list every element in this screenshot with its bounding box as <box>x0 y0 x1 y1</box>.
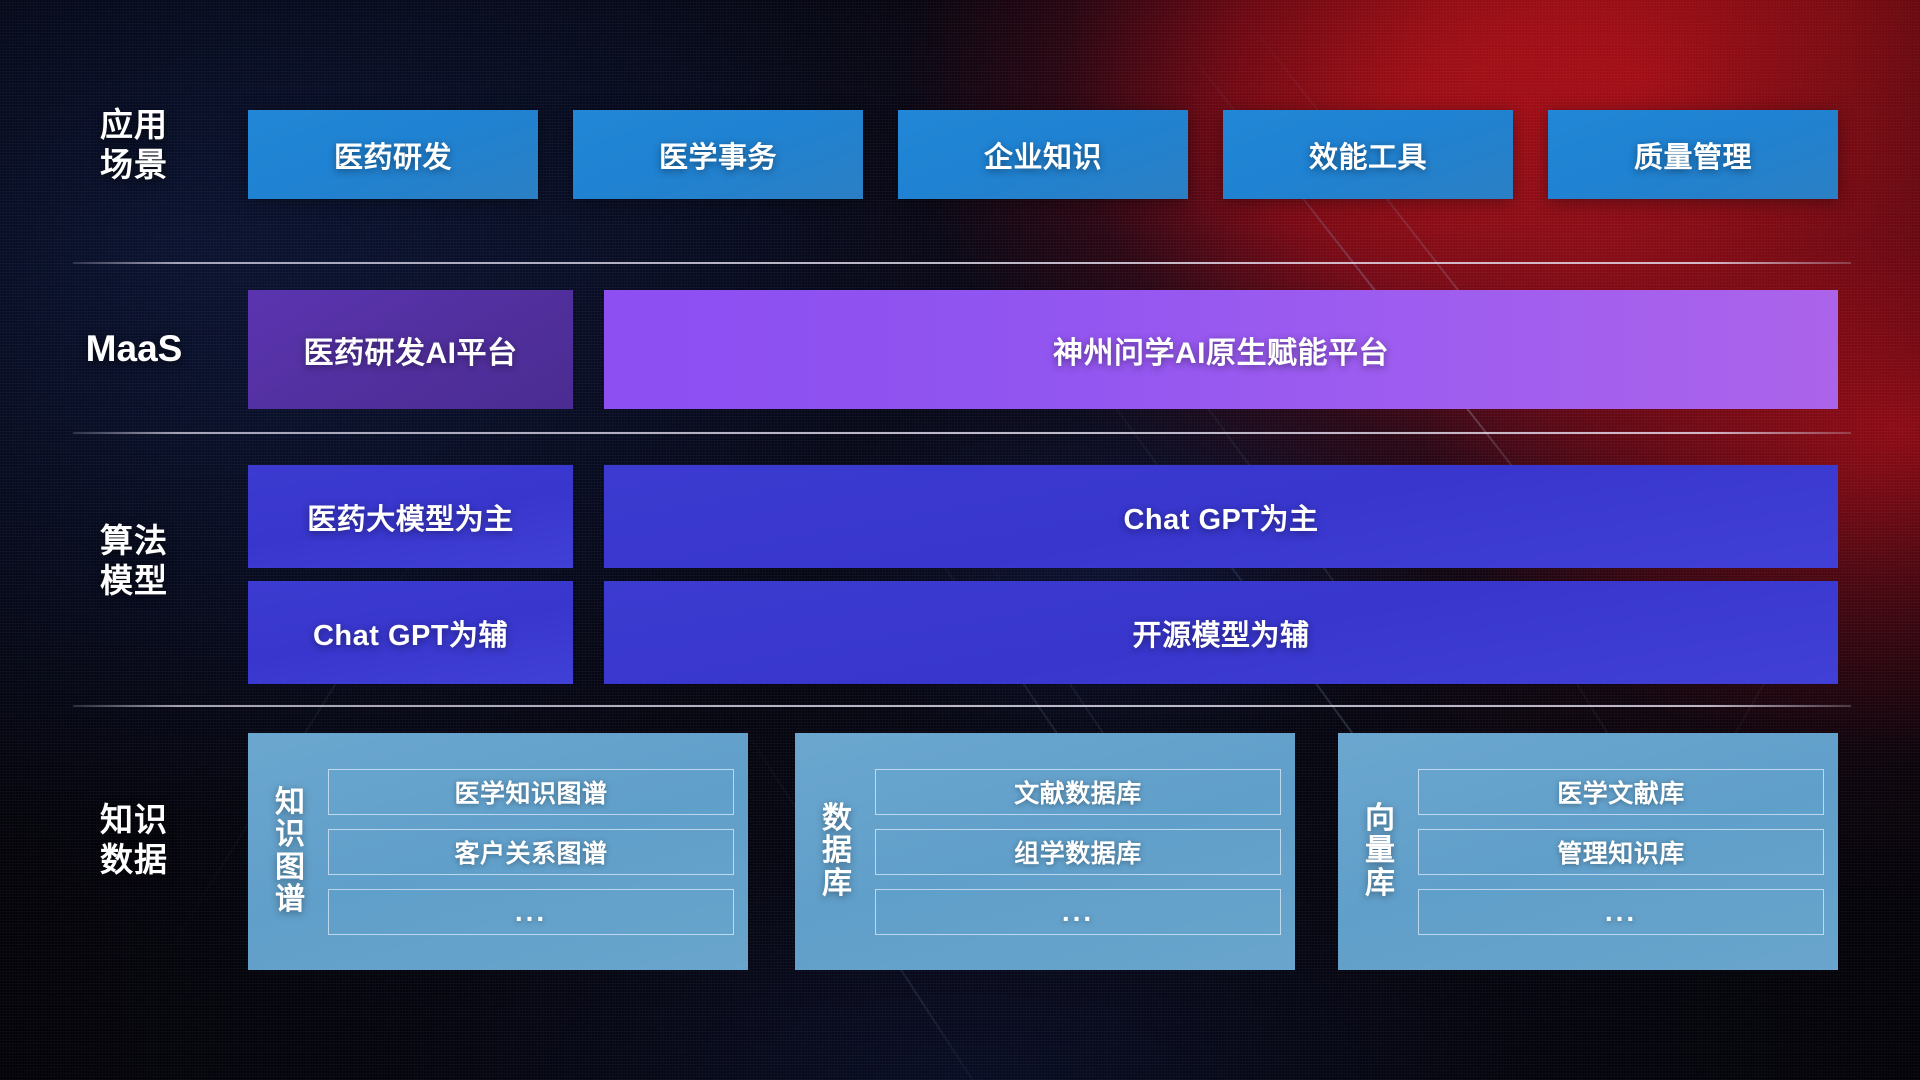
algorithm-item-opensource-aux[interactable]: 开源模型为辅 <box>604 581 1838 684</box>
maas-item-native-platform-label: 神州问学AI原生赋能平台 <box>1053 328 1389 372</box>
knowledge-database-item-0[interactable]: 文献数据库 <box>875 769 1281 815</box>
knowledge-group-vector-title: 向 量 库 <box>1352 803 1408 900</box>
row-label-knowledge: 知识 数据 <box>70 800 198 879</box>
application-item-4[interactable]: 质量管理 <box>1548 110 1838 199</box>
divider-application-maas <box>73 262 1851 264</box>
knowledge-graph-item-0[interactable]: 医学知识图谱 <box>328 769 734 815</box>
knowledge-group-graph: 知 识 图 谱 医学知识图谱 客户关系图谱 ... <box>248 733 748 970</box>
algorithm-item-pharma-main[interactable]: 医药大模型为主 <box>248 465 573 568</box>
application-item-1-label: 医学事务 <box>659 134 777 176</box>
row-label-application: 应用 场景 <box>70 105 198 184</box>
knowledge-graph-item-2[interactable]: ... <box>328 889 734 935</box>
algorithm-item-chatgpt-aux-label: Chat GPT为辅 <box>313 612 508 654</box>
algorithm-item-chatgpt-main[interactable]: Chat GPT为主 <box>604 465 1838 568</box>
divider-maas-algorithm <box>73 432 1851 434</box>
row-label-algorithm: 算法 模型 <box>70 521 198 600</box>
application-item-0[interactable]: 医药研发 <box>248 110 538 199</box>
application-item-4-label: 质量管理 <box>1634 134 1752 176</box>
knowledge-vector-item-0[interactable]: 医学文献库 <box>1418 769 1824 815</box>
knowledge-group-vector-items: 医学文献库 管理知识库 ... <box>1418 749 1824 954</box>
knowledge-vector-item-2[interactable]: ... <box>1418 889 1824 935</box>
knowledge-graph-item-1[interactable]: 客户关系图谱 <box>328 829 734 875</box>
knowledge-group-graph-items: 医学知识图谱 客户关系图谱 ... <box>328 749 734 954</box>
algorithm-item-pharma-main-label: 医药大模型为主 <box>307 496 514 538</box>
knowledge-group-vector: 向 量 库 医学文献库 管理知识库 ... <box>1338 733 1838 970</box>
application-item-0-label: 医药研发 <box>334 134 452 176</box>
maas-item-native-platform[interactable]: 神州问学AI原生赋能平台 <box>604 290 1838 409</box>
application-item-2[interactable]: 企业知识 <box>898 110 1188 199</box>
knowledge-group-graph-title: 知 识 图 谱 <box>262 787 318 917</box>
knowledge-group-database: 数 据 库 文献数据库 组学数据库 ... <box>795 733 1295 970</box>
algorithm-item-chatgpt-main-label: Chat GPT为主 <box>1123 496 1318 538</box>
application-item-1[interactable]: 医学事务 <box>573 110 863 199</box>
knowledge-database-item-2[interactable]: ... <box>875 889 1281 935</box>
application-item-2-label: 企业知识 <box>984 134 1102 176</box>
application-item-3-label: 效能工具 <box>1309 134 1427 176</box>
divider-algorithm-knowledge <box>73 705 1851 707</box>
maas-item-pharma-platform[interactable]: 医药研发AI平台 <box>248 290 573 409</box>
row-label-maas: MaaS <box>70 327 198 371</box>
knowledge-vector-item-1[interactable]: 管理知识库 <box>1418 829 1824 875</box>
algorithm-item-chatgpt-aux[interactable]: Chat GPT为辅 <box>248 581 573 684</box>
application-item-3[interactable]: 效能工具 <box>1223 110 1513 199</box>
knowledge-database-item-1[interactable]: 组学数据库 <box>875 829 1281 875</box>
knowledge-group-database-items: 文献数据库 组学数据库 ... <box>875 749 1281 954</box>
algorithm-item-opensource-aux-label: 开源模型为辅 <box>1132 612 1309 654</box>
knowledge-group-database-title: 数 据 库 <box>809 803 865 900</box>
maas-item-pharma-platform-label: 医药研发AI平台 <box>304 328 518 372</box>
